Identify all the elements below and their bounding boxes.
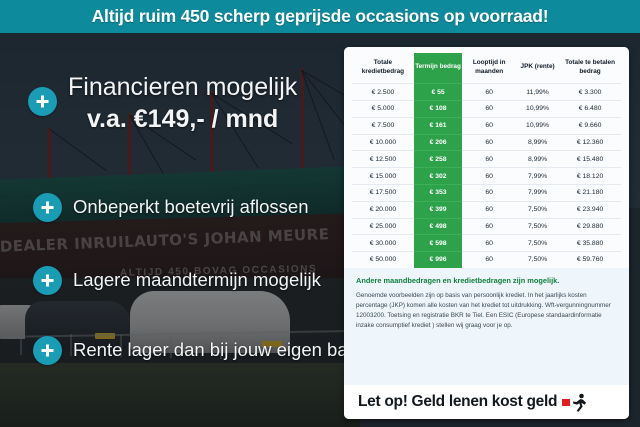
table-cell: 60 [462,235,516,252]
table-cell: € 18.120 [559,168,621,185]
table-cell: € 353 [414,184,462,201]
table-cell: 8,99% [516,151,559,168]
feature-label: Rente lager dan bij jouw eigen bank [73,340,367,361]
table-cell: € 12.360 [559,134,621,151]
table-cell: € 25.000 [352,218,414,235]
table-cell: € 302 [414,168,462,185]
table-cell: 7,99% [516,168,559,185]
table-row: € 50.000€ 996607,50%€ 59.760 [352,252,621,268]
table-cell: 60 [462,134,516,151]
table-cell: 60 [462,218,516,235]
plus-circle-icon [33,266,62,295]
plus-circle-icon [33,193,62,222]
warning-red-box [562,399,570,406]
table-cell: 8,99% [516,134,559,151]
table-cell: € 30.000 [352,235,414,252]
table-cell: 7,50% [516,235,559,252]
table-cell: € 399 [414,201,462,218]
table-cell: € 23.940 [559,201,621,218]
table-cell: € 15.480 [559,151,621,168]
table-cell: € 161 [414,117,462,134]
table-header-cell: Looptijd in maanden [462,53,516,84]
table-row: € 15.000€ 302607,99%€ 18.120 [352,168,621,185]
table-cell: € 35.880 [559,235,621,252]
table-cell: € 15.000 [352,168,414,185]
table-cell: € 21.180 [559,184,621,201]
table-cell: € 5.000 [352,101,414,118]
table-cell: € 10.000 [352,134,414,151]
table-cell: € 3.300 [559,84,621,101]
table-cell: € 55 [414,84,462,101]
table-cell: € 206 [414,134,462,151]
legal-body: Genoemde voorbeelden zijn op basis van p… [356,291,617,332]
table-row: € 7.500€ 1616010,99%€ 9.660 [352,117,621,134]
top-banner-text: Altijd ruim 450 scherp geprijsde occasio… [92,6,549,27]
table-row: € 20.000€ 399607,50%€ 23.940 [352,201,621,218]
table-cell: € 29.880 [559,218,621,235]
table-cell: 60 [462,184,516,201]
table-header-row: Totale kredietbedragTermijn bedragLoopti… [352,53,621,84]
table-cell: 60 [462,84,516,101]
table-row: € 12.500€ 258608,99%€ 15.480 [352,151,621,168]
feature-item-financiering: Financieren mogelijk v.a. €149,- / mnd [28,73,297,133]
table-cell: € 258 [414,151,462,168]
feature-label-line1: Financieren mogelijk [68,73,297,101]
credit-table-container: Totale kredietbedragTermijn bedragLoopti… [344,47,629,268]
table-cell: 7,50% [516,218,559,235]
table-row: € 17.500€ 353607,99%€ 21.180 [352,184,621,201]
table-cell: 7,50% [516,201,559,218]
table-row: € 10.000€ 206608,99%€ 12.360 [352,134,621,151]
table-cell: 10,99% [516,117,559,134]
plus-circle-icon [28,87,57,116]
table-cell: 7,99% [516,184,559,201]
legal-title: Andere maandbedragen en kredietbedragen … [356,276,617,286]
table-cell: € 50.000 [352,252,414,268]
table-cell: € 498 [414,218,462,235]
feature-item-aflossen: Onbeperkt boetevrij aflossen [33,193,309,222]
table-cell: 60 [462,168,516,185]
table-cell: 60 [462,117,516,134]
feature-list: Financieren mogelijk v.a. €149,- / mnd O… [0,33,345,427]
table-cell: € 996 [414,252,462,268]
feature-label: Onbeperkt boetevrij aflossen [73,197,309,218]
table-header-cell: JPK (rente) [516,53,559,84]
table-cell: 7,50% [516,252,559,268]
table-cell: € 9.660 [559,117,621,134]
credit-table: Totale kredietbedragTermijn bedragLoopti… [352,53,621,268]
table-cell: € 2.500 [352,84,414,101]
feature-item-maandtermijn: Lagere maandtermijn mogelijk [33,266,321,295]
plus-circle-icon [33,336,62,365]
table-cell: € 108 [414,101,462,118]
table-header-cell: Termijn bedrag [414,53,462,84]
table-row: € 30.000€ 598607,50%€ 35.880 [352,235,621,252]
warning-strip: Let op! Geld lenen kost geld [344,385,629,419]
table-header-cell: Totale te betalen bedrag [559,53,621,84]
warning-text: Let op! Geld lenen kost geld [358,393,557,411]
table-cell: 60 [462,252,516,268]
table-cell: € 598 [414,235,462,252]
table-cell: € 6.480 [559,101,621,118]
feature-item-rente: Rente lager dan bij jouw eigen bank [33,336,367,365]
table-cell: € 7.500 [352,117,414,134]
table-row: € 25.000€ 498607,50%€ 29.880 [352,218,621,235]
table-cell: 60 [462,151,516,168]
table-cell: 11,99% [516,84,559,101]
credit-info-card: Totale kredietbedragTermijn bedragLoopti… [344,47,629,419]
feature-label: Lagere maandtermijn mogelijk [73,270,321,291]
table-header-cell: Totale kredietbedrag [352,53,414,84]
table-row: € 2.500€ 556011,99%€ 3.300 [352,84,621,101]
table-cell: 10,99% [516,101,559,118]
feature-label-line2: v.a. €149,- / mnd [68,105,297,133]
top-banner: Altijd ruim 450 scherp geprijsde occasio… [0,0,640,33]
table-cell: € 59.760 [559,252,621,268]
table-body: € 2.500€ 556011,99%€ 3.300€ 5.000€ 10860… [352,84,621,268]
running-man-icon [562,393,588,412]
table-cell: 60 [462,201,516,218]
table-cell: € 12.500 [352,151,414,168]
promo-banner-image: Altijd ruim 450 scherp geprijsde occasio… [0,0,640,427]
legal-disclaimer: Andere maandbedragen en kredietbedragen … [344,268,629,331]
table-cell: € 20.000 [352,201,414,218]
table-row: € 5.000€ 1086010,99%€ 6.480 [352,101,621,118]
table-cell: 60 [462,101,516,118]
table-cell: € 17.500 [352,184,414,201]
